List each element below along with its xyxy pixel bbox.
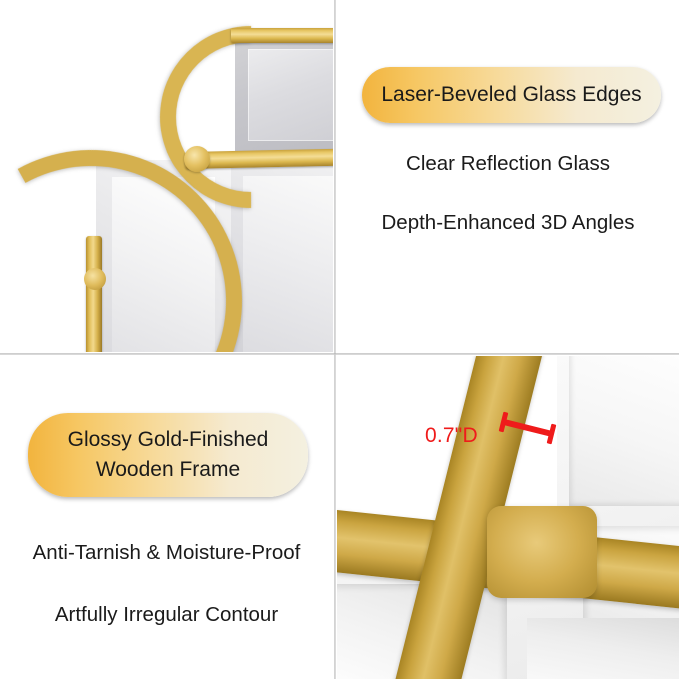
badge-glossy-gold-finished-wooden-frame: Glossy Gold-Finished Wooden Frame <box>28 413 308 497</box>
badge-laser-beveled-glass-edges: Laser-Beveled Glass Edges <box>362 67 661 123</box>
badge-label-line-1: Glossy Gold-Finished <box>68 425 269 455</box>
feature-collage: Laser-Beveled Glass Edges Clear Reflecti… <box>0 0 679 679</box>
caption-anti-tarnish-moisture-proof: Anti-Tarnish & Moisture-Proof <box>0 541 333 565</box>
gold-frame-bar-top <box>231 28 333 43</box>
gold-frame-joint-lower <box>84 268 106 290</box>
frame-joint-macro-photo <box>337 356 679 679</box>
gold-frame-bar-vertical <box>86 236 102 352</box>
bevel-wedge-top-right <box>569 356 679 506</box>
quadrant-top-right-text <box>337 0 679 352</box>
quadrant-top-left-mirror-photo <box>0 0 333 352</box>
mirror-corner-photo <box>0 0 333 352</box>
dimension-label-depth: 0.7"D <box>425 424 478 448</box>
bevel-wedge-bottom-center <box>527 618 679 679</box>
divider-horizontal <box>0 353 679 355</box>
caption-depth-enhanced-3d-angles: Depth-Enhanced 3D Angles <box>337 211 679 235</box>
caption-clear-reflection-glass: Clear Reflection Glass <box>337 152 679 176</box>
quadrant-bottom-right-frame-closeup <box>337 356 679 679</box>
caption-artfully-irregular-contour: Artfully Irregular Contour <box>0 603 333 627</box>
divider-vertical <box>334 0 336 679</box>
badge-label: Laser-Beveled Glass Edges <box>381 83 641 107</box>
quadrant-bottom-left-text <box>0 356 333 679</box>
badge-label-line-2: Wooden Frame <box>96 455 240 485</box>
gold-frame-joint-upper <box>184 146 210 172</box>
gold-bar-cross-joint <box>487 506 597 598</box>
